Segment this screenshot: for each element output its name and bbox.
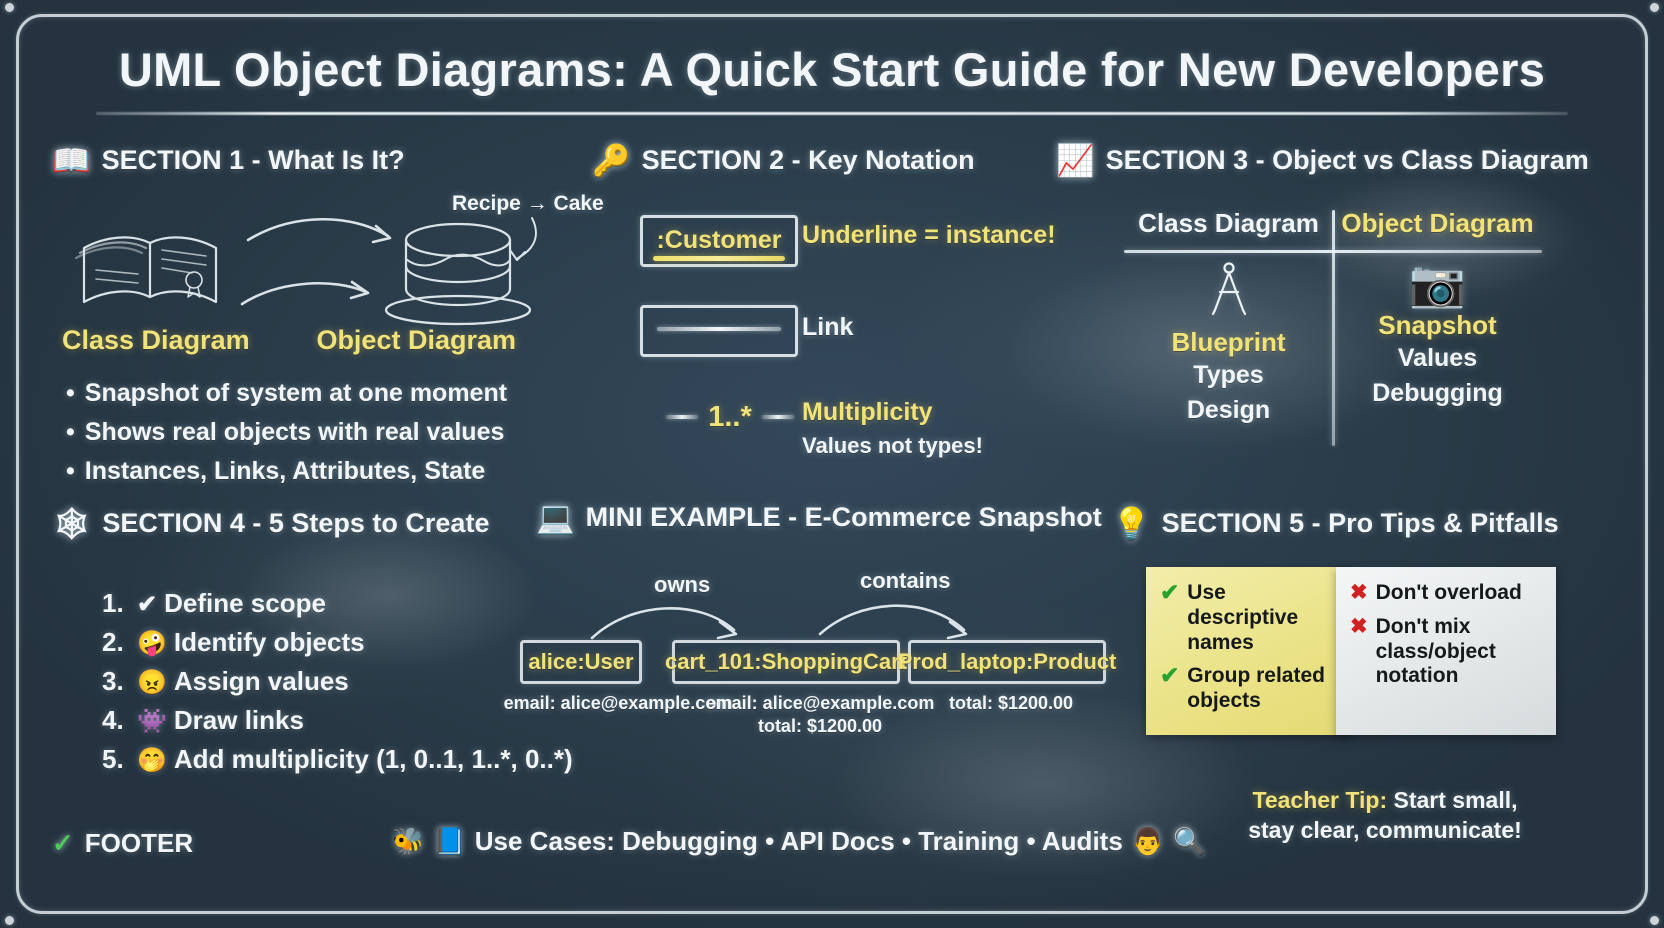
- section-2-heading: 🔑 SECTION 2 - Key Notation: [592, 145, 975, 176]
- object-name: Prod_laptop:Product: [898, 649, 1117, 675]
- list-item: 5. 🤭 Add multiplicity (1, 0..1, 1..*, 0.…: [102, 740, 622, 779]
- mini-example-heading-text: MINI EXAMPLE - E-Commerce Snapshot: [586, 502, 1102, 533]
- tip-row: ✔ Use descriptive names: [1160, 581, 1336, 655]
- dash-right: [762, 415, 794, 419]
- object-name: cart_101:ShoppingCart: [665, 649, 907, 675]
- step-number: 5.: [102, 740, 130, 779]
- column-line: Design: [1124, 393, 1333, 428]
- section-1-heading-text: SECTION 1 - What Is It?: [102, 145, 405, 176]
- object-box-cart: cart_101:ShoppingCart: [672, 640, 900, 684]
- section-5-heading-text: SECTION 5 - Pro Tips & Pitfalls: [1162, 508, 1559, 539]
- footer-use-cases: 🐝 📘 Use Cases: Debugging • API Docs • Tr…: [392, 826, 1206, 857]
- key-icon: 🔑: [592, 145, 631, 176]
- pitfalls-card: ✖ Don't overload ✖ Don't mix class/objec…: [1336, 567, 1556, 735]
- step-text: Add multiplicity (1, 0..1, 1..*, 0..*): [174, 740, 573, 779]
- multiplicity-sample: 1..*: [650, 396, 810, 438]
- class-vs-object-table: Class Diagram Blueprint Types Design Obj…: [1124, 206, 1542, 446]
- object-box-user: alice:User: [520, 640, 642, 684]
- step-text: Identify objects: [174, 623, 365, 662]
- column-header: Object Diagram: [1333, 206, 1542, 250]
- check-icon: ✔: [137, 587, 157, 623]
- step-text: Define scope: [164, 584, 326, 623]
- face-icon: 🤭: [137, 743, 167, 779]
- bug-icon: 🐝: [392, 826, 424, 857]
- footer-label: FOOTER: [85, 828, 193, 859]
- section-4-heading-text: SECTION 4 - 5 Steps to Create: [102, 508, 489, 539]
- column-header: Class Diagram: [1124, 206, 1333, 250]
- pitfall-row: ✖ Don't overload: [1350, 581, 1542, 606]
- attribute-line: total: $1200.00: [916, 692, 1106, 715]
- laptop-icon: 💻: [536, 502, 575, 533]
- section-3-heading: 📈 SECTION 3 - Object vs Class Diagram: [1056, 145, 1589, 176]
- list-item: Shows real objects with real values: [66, 413, 586, 452]
- corner-dot-icon: [5, 916, 14, 925]
- tip-text: Use descriptive names: [1187, 581, 1336, 655]
- column-keyword: Snapshot: [1333, 310, 1542, 341]
- footer-left: ✓ FOOTER: [52, 828, 193, 859]
- attribute-line: total: $1200.00: [700, 715, 940, 738]
- teacher-tip: Teacher Tip: Start small, stay clear, co…: [1230, 786, 1540, 846]
- section-4-heading: 🕸 SECTION 4 - 5 Steps to Create: [52, 508, 489, 539]
- recipe-to-cake-note: Recipe → Cake: [452, 192, 604, 216]
- magnifier-icon: 🔍: [1173, 826, 1205, 857]
- teacher-tip-label: Teacher Tip:: [1252, 787, 1387, 813]
- instance-underline: [653, 256, 785, 261]
- mini-example-heading: 💻 MINI EXAMPLE - E-Commerce Snapshot: [536, 502, 1102, 533]
- multiplicity-value: 1..*: [708, 401, 752, 434]
- camera-icon: 📷: [1333, 260, 1542, 306]
- column-line: Types: [1124, 358, 1333, 393]
- corner-dot-icon: [5, 3, 14, 12]
- object-name: alice:User: [528, 649, 633, 675]
- notation-underline-label: Underline = instance!: [802, 221, 1056, 250]
- list-item: Snapshot of system at one moment: [66, 374, 586, 413]
- cross-icon: ✖: [1350, 615, 1368, 689]
- footer-use-cases-text: Use Cases: Debugging • API Docs • Traini…: [475, 826, 1123, 857]
- table-column-class-diagram: Class Diagram Blueprint Types Design: [1124, 206, 1333, 427]
- customer-object-label: :Customer: [643, 226, 795, 255]
- flashlight-icon: 🕸: [52, 508, 91, 539]
- notation-multiplicity-sublabel: Values not types!: [802, 433, 983, 459]
- corner-dot-icon: [1650, 3, 1659, 12]
- pitfall-text: Don't overload: [1376, 581, 1522, 606]
- tip-row: ✔ Group related objects: [1160, 664, 1336, 714]
- check-icon: ✔: [1160, 581, 1179, 655]
- label-class-diagram: Class Diagram: [62, 325, 250, 356]
- step-number: 4.: [102, 701, 130, 740]
- section-5-heading: 💡 SECTION 5 - Pro Tips & Pitfalls: [1112, 508, 1559, 539]
- open-book-icon: 📖: [52, 145, 91, 176]
- object-attributes-cart: email: alice@example.com total: $1200.00: [700, 692, 940, 739]
- section-3-heading-text: SECTION 3 - Object vs Class Diagram: [1106, 145, 1589, 176]
- page-title: UML Object Diagrams: A Quick Start Guide…: [0, 42, 1664, 97]
- compass-divider-icon: [1124, 260, 1333, 323]
- object-attributes-product: total: $1200.00: [916, 692, 1106, 715]
- person-icon: 👨: [1132, 826, 1164, 857]
- alien-monster-icon: 👾: [137, 704, 167, 740]
- column-line: Values: [1333, 341, 1542, 376]
- step-number: 3.: [102, 662, 130, 701]
- dash-left: [666, 415, 698, 419]
- mini-example-link-arrows: [520, 586, 1120, 646]
- green-check-icon: ✓: [52, 828, 74, 859]
- column-line: Debugging: [1333, 376, 1542, 411]
- pitfall-text: Don't mix class/object notation: [1376, 615, 1542, 689]
- list-item: Instances, Links, Attributes, State: [66, 452, 586, 491]
- attribute-line: email: alice@example.com: [700, 692, 940, 715]
- object-box-product: Prod_laptop:Product: [908, 640, 1106, 684]
- face-icon: 😠: [137, 665, 167, 701]
- step-text: Assign values: [174, 662, 349, 701]
- book-icon: 📘: [433, 826, 465, 857]
- corner-dot-icon: [1650, 916, 1659, 925]
- step-number: 1.: [102, 584, 130, 623]
- section-2-heading-text: SECTION 2 - Key Notation: [642, 145, 975, 176]
- chalkboard: UML Object Diagrams: A Quick Start Guide…: [0, 0, 1664, 928]
- title-underline-rule: [96, 112, 1568, 115]
- tip-text: Group related objects: [1187, 664, 1336, 714]
- check-icon: ✔: [1160, 664, 1179, 714]
- table-column-object-diagram: Object Diagram 📷 Snapshot Values Debuggi…: [1333, 206, 1542, 410]
- cross-icon: ✖: [1350, 581, 1368, 606]
- column-keyword: Blueprint: [1124, 327, 1333, 358]
- notation-link-label: Link: [802, 313, 853, 342]
- link-line: [657, 327, 781, 331]
- notation-multiplicity-label: Multiplicity: [802, 398, 933, 427]
- section-1-bullets: Snapshot of system at one moment Shows r…: [66, 374, 586, 491]
- link-notation-box: [640, 305, 798, 357]
- label-object-diagram: Object Diagram: [316, 325, 516, 356]
- lightbulb-icon: 💡: [1112, 508, 1151, 539]
- section-1-heading: 📖 SECTION 1 - What Is It?: [52, 145, 405, 176]
- section-1-diagram-labels: Class Diagram Object Diagram: [52, 325, 592, 356]
- pro-tips-card: ✔ Use descriptive names ✔ Group related …: [1146, 567, 1350, 735]
- customer-object-box: :Customer: [640, 215, 798, 267]
- pitfall-row: ✖ Don't mix class/object notation: [1350, 615, 1542, 689]
- face-icon: 🤪: [137, 626, 167, 662]
- arrow-up-right-icon: 📈: [1056, 145, 1095, 176]
- step-number: 2.: [102, 623, 130, 662]
- step-text: Draw links: [174, 701, 304, 740]
